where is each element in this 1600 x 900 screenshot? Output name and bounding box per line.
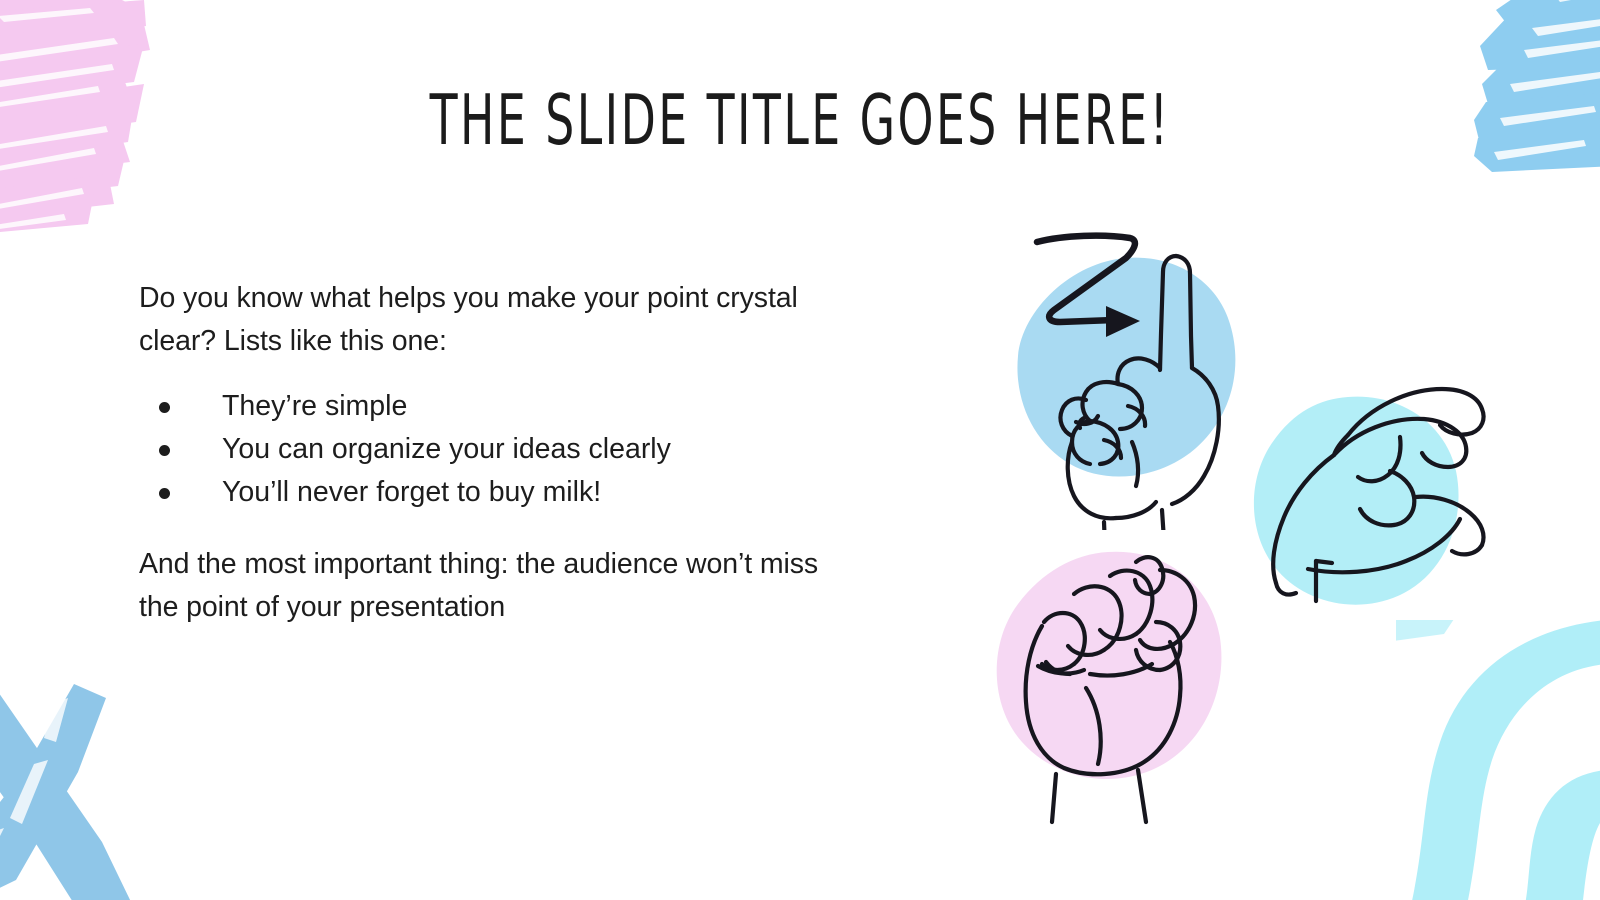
outro-paragraph: And the most important thing: the audien… <box>139 543 839 629</box>
bullet-list: They’re simple You can organize your ide… <box>139 385 879 514</box>
page-title: THE SLIDE TITLE GOES HERE! <box>144 86 1456 155</box>
list-item-label: They’re simple <box>222 390 407 422</box>
intro-paragraph: Do you know what helps you make your poi… <box>139 277 844 363</box>
list-item: You can organize your ideas clearly <box>139 428 879 471</box>
list-item: You’ll never forget to buy milk! <box>139 471 879 514</box>
blue-circle-shape <box>1017 258 1235 477</box>
slide-canvas: THE SLIDE TITLE GOES HERE! Do you know w… <box>0 0 1600 900</box>
bullet-dot-icon <box>159 488 170 499</box>
blue-cross-mark-bottom-left-icon <box>0 642 172 900</box>
list-item-label: You’ll never forget to buy milk! <box>222 476 601 508</box>
bullet-dot-icon <box>159 445 170 456</box>
pinching-hand-illustration <box>1220 375 1490 635</box>
closed-fist-hand-illustration <box>960 530 1250 830</box>
bullet-dot-icon <box>159 402 170 413</box>
hand-illustrations-group <box>950 200 1510 860</box>
list-item-label: You can organize your ideas clearly <box>222 433 671 465</box>
list-item: They’re simple <box>139 385 879 428</box>
body-text-column: Do you know what helps you make your poi… <box>139 277 879 629</box>
